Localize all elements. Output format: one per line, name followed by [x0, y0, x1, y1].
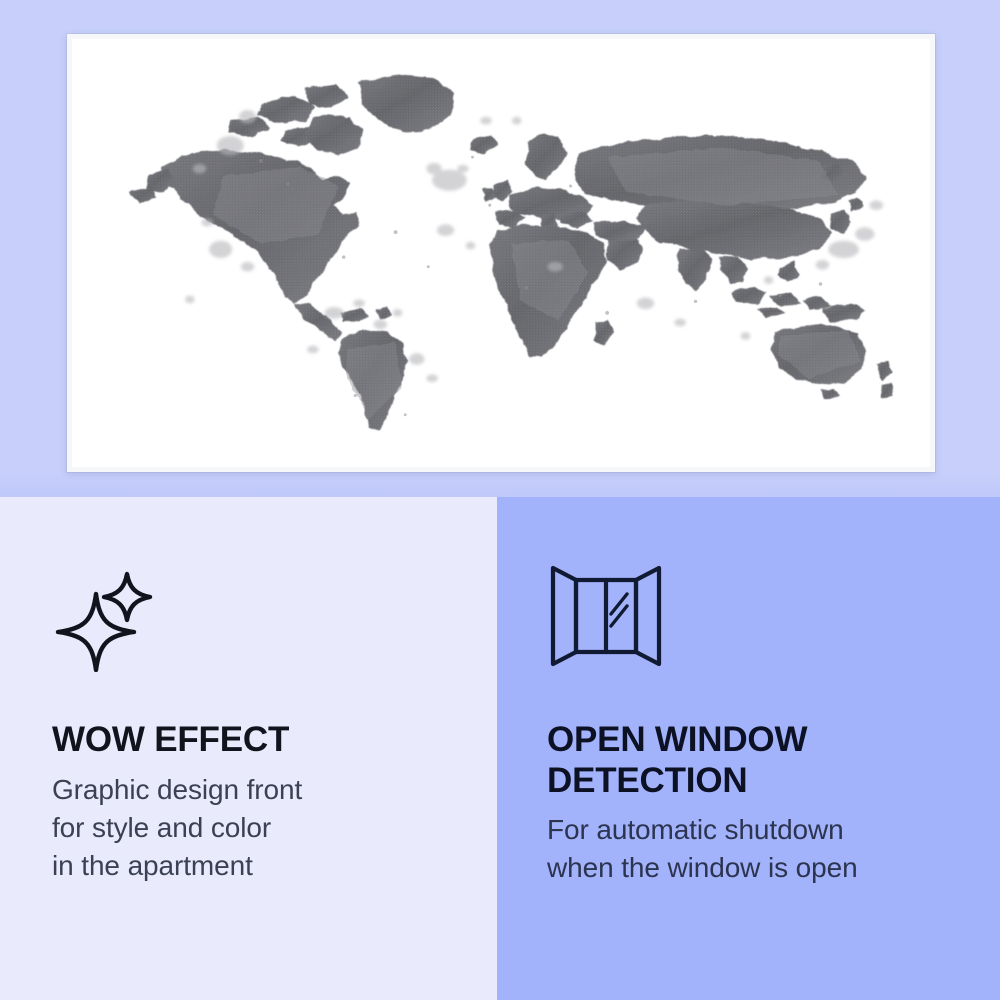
- product-feature-infographic: WOW EFFECT Graphic design front for styl…: [0, 0, 1000, 1000]
- feature-title-open-window-detection: OPEN WINDOW DETECTION: [547, 720, 960, 801]
- poster-mat: [77, 44, 925, 462]
- world-map-svg: [96, 61, 907, 446]
- feature-panel-wow-effect: WOW EFFECT Graphic design front for styl…: [0, 497, 497, 1000]
- world-map-image: [96, 61, 907, 446]
- feature-description-wow-effect: Graphic design front for style and color…: [52, 771, 457, 885]
- feature-panel-open-window-detection: OPEN WINDOW DETECTION For automatic shut…: [497, 497, 1000, 1000]
- open-window-icon: [547, 562, 960, 672]
- hero-artwork-section: [0, 0, 1000, 497]
- feature-title-wow-effect: WOW EFFECT: [52, 720, 457, 761]
- sparkle-icon: [52, 562, 457, 672]
- feature-panels: WOW EFFECT Graphic design front for styl…: [0, 497, 1000, 1000]
- feature-description-open-window-detection: For automatic shutdown when the window i…: [547, 811, 960, 887]
- hero-bottom-gradient: [0, 473, 1000, 497]
- poster-frame: [67, 34, 935, 472]
